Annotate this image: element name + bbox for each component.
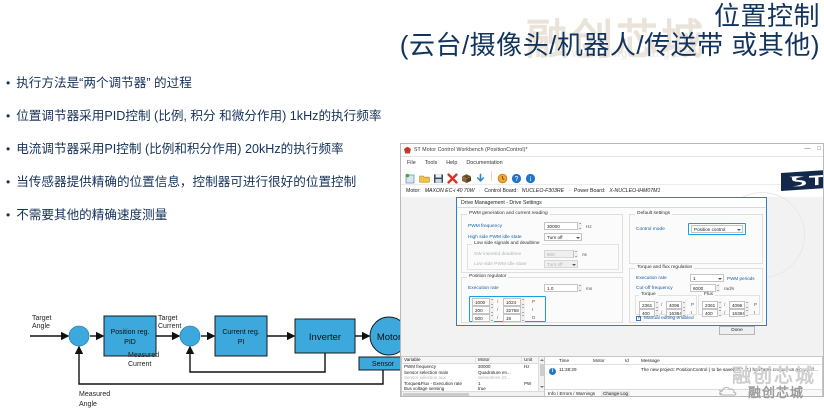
log-row[interactable]: 11:38:29 The new project: PositionContro… — [545, 365, 822, 373]
log-table-header: Time Motor Id Message — [545, 357, 822, 365]
group-caption-default-settings: Default settings — [635, 211, 672, 216]
separator-dot: · — [568, 188, 570, 194]
motor-label: Motor: — [406, 188, 421, 194]
pid-p-denominator-spinner[interactable] — [520, 298, 525, 306]
column-header-id: Id — [625, 358, 641, 363]
pid-i-denominator-spinner[interactable] — [520, 306, 525, 314]
menu-item-documentation[interactable]: Documentation — [466, 160, 502, 166]
minimize-icon[interactable]: — — [804, 145, 810, 154]
save-icon[interactable] — [433, 171, 444, 182]
torque-flux-execution-rate-label: Execution rate — [636, 276, 667, 281]
toolbar-separator — [491, 171, 492, 181]
bullet-dot-icon: • — [6, 109, 10, 124]
manual-editing-checkbox[interactable] — [636, 316, 641, 321]
cutoff-frequency-label: Cut-off frequency — [636, 286, 673, 291]
position-execution-rate-label: Execution rate — [468, 286, 499, 291]
menubar[interactable]: File Tools Help Documentation — [401, 157, 823, 168]
pid-d-term-label: D — [532, 315, 535, 320]
motor-value: MAXON EC-i 40 70W — [425, 188, 475, 194]
high-side-idle-value: Turn off — [547, 235, 563, 240]
manual-editing-label: Manual editing enabled — [644, 316, 694, 321]
delete-icon[interactable] — [447, 171, 458, 182]
cutoff-frequency-unit: rad/s — [724, 286, 734, 291]
bullet-list: • 执行方法是“两个调节器” 的过程 • 位置调节器采用PID控制 (比例, 积… — [6, 76, 406, 241]
column-header-time: Time — [559, 358, 593, 363]
svg-text:Angle: Angle — [79, 401, 97, 408]
summing-junction-position — [69, 326, 89, 346]
torque-flux-execution-rate-value: 1 — [693, 276, 696, 281]
bottom-watermark-text: 融创芯城 — [748, 382, 804, 401]
list-item: • 位置调节器采用PID控制 (比例, 积分 和微分作用) 1kHz的执行频率 — [6, 109, 406, 124]
chevron-down-icon — [572, 264, 576, 266]
control-mode-value: Position control — [694, 227, 725, 232]
maximize-icon[interactable]: □ — [817, 145, 821, 154]
power-board-value: X-NUCLEO-IHM07M1 — [609, 188, 660, 194]
group-low-side: Low side signals and deadtime SW inserte… — [467, 244, 619, 270]
bullet-text: 不需要其他的精确速度测量 — [16, 208, 167, 223]
menu-item-help[interactable]: Help — [446, 160, 457, 166]
tab-info-errors-warnings[interactable]: Info / Errors / Warnings — [548, 391, 595, 396]
bullet-text: 位置调节器采用PID控制 (比例, 积分 和微分作用) 1kHz的执行频率 — [16, 109, 381, 124]
scroll-up-icon[interactable] — [540, 359, 544, 361]
control-board-value: NUCLEO-F303RE — [522, 188, 564, 194]
torque-flux-execution-rate-unit: PWM periods — [727, 276, 755, 281]
cell-time: 11:38:29 — [559, 367, 593, 372]
help-icon[interactable]: ? — [511, 171, 522, 182]
pid-p-slash: / — [497, 299, 498, 304]
bottom-watermark: 融创芯城 — [718, 382, 804, 401]
control-mode-label: Control mode — [636, 227, 665, 232]
info-icon[interactable]: i — [525, 171, 536, 182]
flux-i-term-label: I — [754, 310, 755, 315]
pid-d-slash: / — [497, 315, 498, 320]
summing-junction-current — [180, 326, 200, 346]
group-caption-torque-flux: Torque and flux regulation — [635, 265, 694, 270]
svg-text:?: ? — [515, 176, 519, 183]
high-side-idle-label: High side PWM idle state — [468, 235, 522, 240]
high-side-idle-select[interactable]: Turn off — [544, 233, 582, 241]
bullet-dot-icon: • — [6, 175, 10, 190]
torque-p-denominator-spinner[interactable] — [681, 301, 686, 309]
group-torque-flux-regulation: Torque and flux regulation Execution rat… — [629, 268, 763, 323]
torque-i-slash: / — [661, 310, 662, 315]
pid-d-denominator-spinner[interactable] — [520, 314, 525, 322]
label-target-angle-1: Target — [32, 315, 52, 322]
pid-d-numerator-spinner[interactable] — [489, 314, 494, 322]
bullet-dot-icon: • — [6, 76, 10, 91]
tab-change-log[interactable]: Change Log — [601, 391, 630, 396]
control-mode-select[interactable]: Position control — [691, 225, 743, 233]
label-target-angle-2: Angle — [32, 323, 50, 330]
torque-p-numerator-spinner[interactable] — [654, 301, 659, 309]
deadtime-label: SW inserted deadtime — [474, 252, 521, 257]
page-title-line-2: (云台/摄像头/机器人/传送带 或其他) — [400, 31, 820, 60]
group-position-regulator: Position regulator Execution rate 1.0 ms… — [461, 277, 623, 323]
flux-p-term-label: P — [754, 302, 757, 307]
bullet-text: 电流调节器采用PI控制 (比例和积分作用) 20kHz的执行频率 — [16, 142, 343, 157]
group-default-settings: Default settings Control mode Position c… — [629, 214, 763, 264]
block-current-regulator — [215, 316, 267, 356]
list-item: • 当传感器提供精确的位置信息，控制器可进行很好的位置控制 — [6, 175, 406, 190]
svg-text:Current: Current — [158, 323, 181, 330]
done-button[interactable]: Done — [719, 326, 755, 335]
group-caption-flux: Flux — [702, 292, 715, 297]
svg-text:PI: PI — [238, 339, 245, 346]
power-board-label: Power Board: — [574, 188, 605, 194]
menu-item-tools[interactable]: Tools — [425, 160, 438, 166]
deadtime-spinner[interactable] — [573, 250, 578, 258]
clock-icon[interactable] — [497, 171, 508, 182]
svg-text:Target: Target — [158, 315, 178, 322]
scrollbar-thumb[interactable] — [540, 364, 545, 376]
low-side-idle-select[interactable]: Turn off — [544, 260, 578, 268]
cutoff-frequency-spinner[interactable] — [715, 284, 720, 292]
package-icon[interactable] — [461, 171, 472, 182]
svg-text:Measured: Measured — [128, 352, 159, 359]
group-torque: Torque 2361 / 4096 P 400 / 16384 I — [635, 295, 697, 315]
open-project-icon[interactable] — [419, 171, 430, 182]
position-execution-rate-spinner[interactable] — [577, 284, 582, 292]
cloud-logo-icon — [718, 385, 744, 398]
svg-text:Motor: Motor — [377, 332, 401, 343]
flux-p-denominator-spinner[interactable] — [744, 301, 749, 309]
list-item: • 执行方法是“两个调节器” 的过程 — [6, 76, 406, 91]
group-caption-pwm: PWM generation and current reading — [467, 211, 550, 216]
page-title: 位置控制 (云台/摄像头/机器人/传送带 或其他) — [400, 2, 820, 60]
svg-text:Current reg.: Current reg. — [222, 329, 259, 336]
pwm-frequency-spinner[interactable] — [577, 222, 582, 230]
menu-item-file[interactable]: File — [407, 160, 416, 166]
pid-i-slash: / — [497, 307, 498, 312]
group-caption-torque: Torque — [639, 292, 658, 297]
flux-p-slash: / — [724, 302, 725, 307]
flux-p-numerator-spinner[interactable] — [717, 301, 722, 309]
chevron-down-icon — [718, 278, 722, 280]
page-title-line-1: 位置控制 — [400, 2, 820, 31]
pwm-frequency-label: PWM frequency — [468, 224, 502, 229]
column-header-message: Message — [641, 358, 660, 363]
pid-i-numerator-spinner[interactable] — [489, 306, 494, 314]
flux-i-denominator-spinner[interactable] — [744, 309, 749, 317]
block-position-regulator — [104, 316, 156, 356]
svg-text:Inverter: Inverter — [309, 332, 341, 343]
svg-text:Current: Current — [128, 361, 151, 368]
chevron-down-icon — [737, 229, 741, 231]
bullet-text: 当传感器提供精确的位置信息，控制器可进行很好的位置控制 — [16, 175, 356, 190]
bullet-text: 执行方法是“两个调节器” 的过程 — [16, 76, 192, 91]
group-caption-position-regulator: Position regulator — [467, 274, 508, 279]
group-pwm-generation: PWM generation and current reading PWM f… — [461, 214, 623, 273]
motor-control-workbench-window[interactable]: ST Motor Control Workbench (PositionCont… — [400, 143, 824, 397]
table-header: Variable Motor Unit — [402, 357, 544, 364]
pwm-frequency-unit: Hz — [586, 224, 592, 229]
separator-dot: · — [479, 188, 481, 194]
torque-flux-execution-rate-select[interactable]: 1 — [690, 274, 724, 282]
torque-i-term-label: I — [691, 310, 692, 315]
group-caption-low-side: Low side signals and deadtime — [472, 241, 542, 246]
control-board-label: Control Board: — [484, 188, 517, 194]
low-side-idle-label: Low side PWM idle state — [474, 262, 527, 267]
position-execution-rate-unit: ms — [586, 286, 592, 291]
svg-text:i: i — [530, 175, 532, 183]
scrollbar-thumb[interactable] — [403, 393, 469, 398]
svg-text:PID: PID — [124, 339, 136, 346]
column-header-variable: Variable — [402, 357, 476, 363]
st-logo — [777, 166, 824, 196]
pid-p-term-label: P — [532, 299, 535, 304]
horizontal-scrollbar[interactable] — [402, 391, 544, 397]
flux-i-slash: / — [724, 310, 725, 315]
chevron-down-icon — [576, 237, 580, 239]
dialog-title: Drive Management - Drive Settings — [457, 198, 766, 208]
column-header-motor: Motor — [593, 358, 625, 363]
variable-table-pane[interactable]: Variable Motor Unit PWM frequency 30000 … — [401, 356, 545, 397]
pid-p-numerator-spinner[interactable] — [489, 298, 494, 306]
pid-i-term-label: I — [532, 307, 533, 312]
window-controls[interactable]: — □ — [804, 145, 821, 154]
low-side-idle-value: Turn off — [547, 262, 563, 267]
group-flux: Flux 2361 / 4096 P 400 / 16384 I — [698, 295, 760, 315]
bullet-dot-icon: • — [6, 208, 10, 223]
control-loop-block-diagram: Target Angle Position reg. PID Target Cu… — [0, 300, 412, 419]
info-icon: i — [549, 368, 556, 375]
column-header-motor: Motor — [476, 357, 522, 363]
svg-text:Sensor: Sensor — [372, 361, 395, 368]
drive-settings-dialog[interactable]: Drive Management - Drive Settings PWM ge… — [456, 197, 767, 326]
bullet-dot-icon: • — [6, 142, 10, 157]
new-project-icon[interactable] — [405, 171, 416, 182]
window-titlebar: ST Motor Control Workbench (PositionCont… — [401, 144, 823, 157]
svg-text:Measured: Measured — [79, 391, 110, 398]
list-item: • 电流调节器采用PI控制 (比例和积分作用) 20kHz的执行频率 — [6, 142, 406, 157]
deadtime-unit: ns — [582, 252, 587, 257]
torque-p-term-label: P — [691, 302, 694, 307]
torque-p-slash: / — [661, 302, 662, 307]
flux-i-numerator-spinner[interactable] — [717, 309, 722, 317]
cell-message: The new project: PositionControl ( to be… — [641, 367, 818, 372]
svg-text:Position reg.: Position reg. — [111, 329, 150, 336]
scroll-down-icon[interactable] — [540, 386, 544, 388]
list-item: • 不需要其他的精确速度测量 — [6, 208, 406, 223]
download-icon[interactable] — [475, 171, 486, 182]
toolbar[interactable]: ? i — [401, 168, 823, 185]
window-title: ST Motor Control Workbench (PositionCont… — [414, 147, 528, 153]
